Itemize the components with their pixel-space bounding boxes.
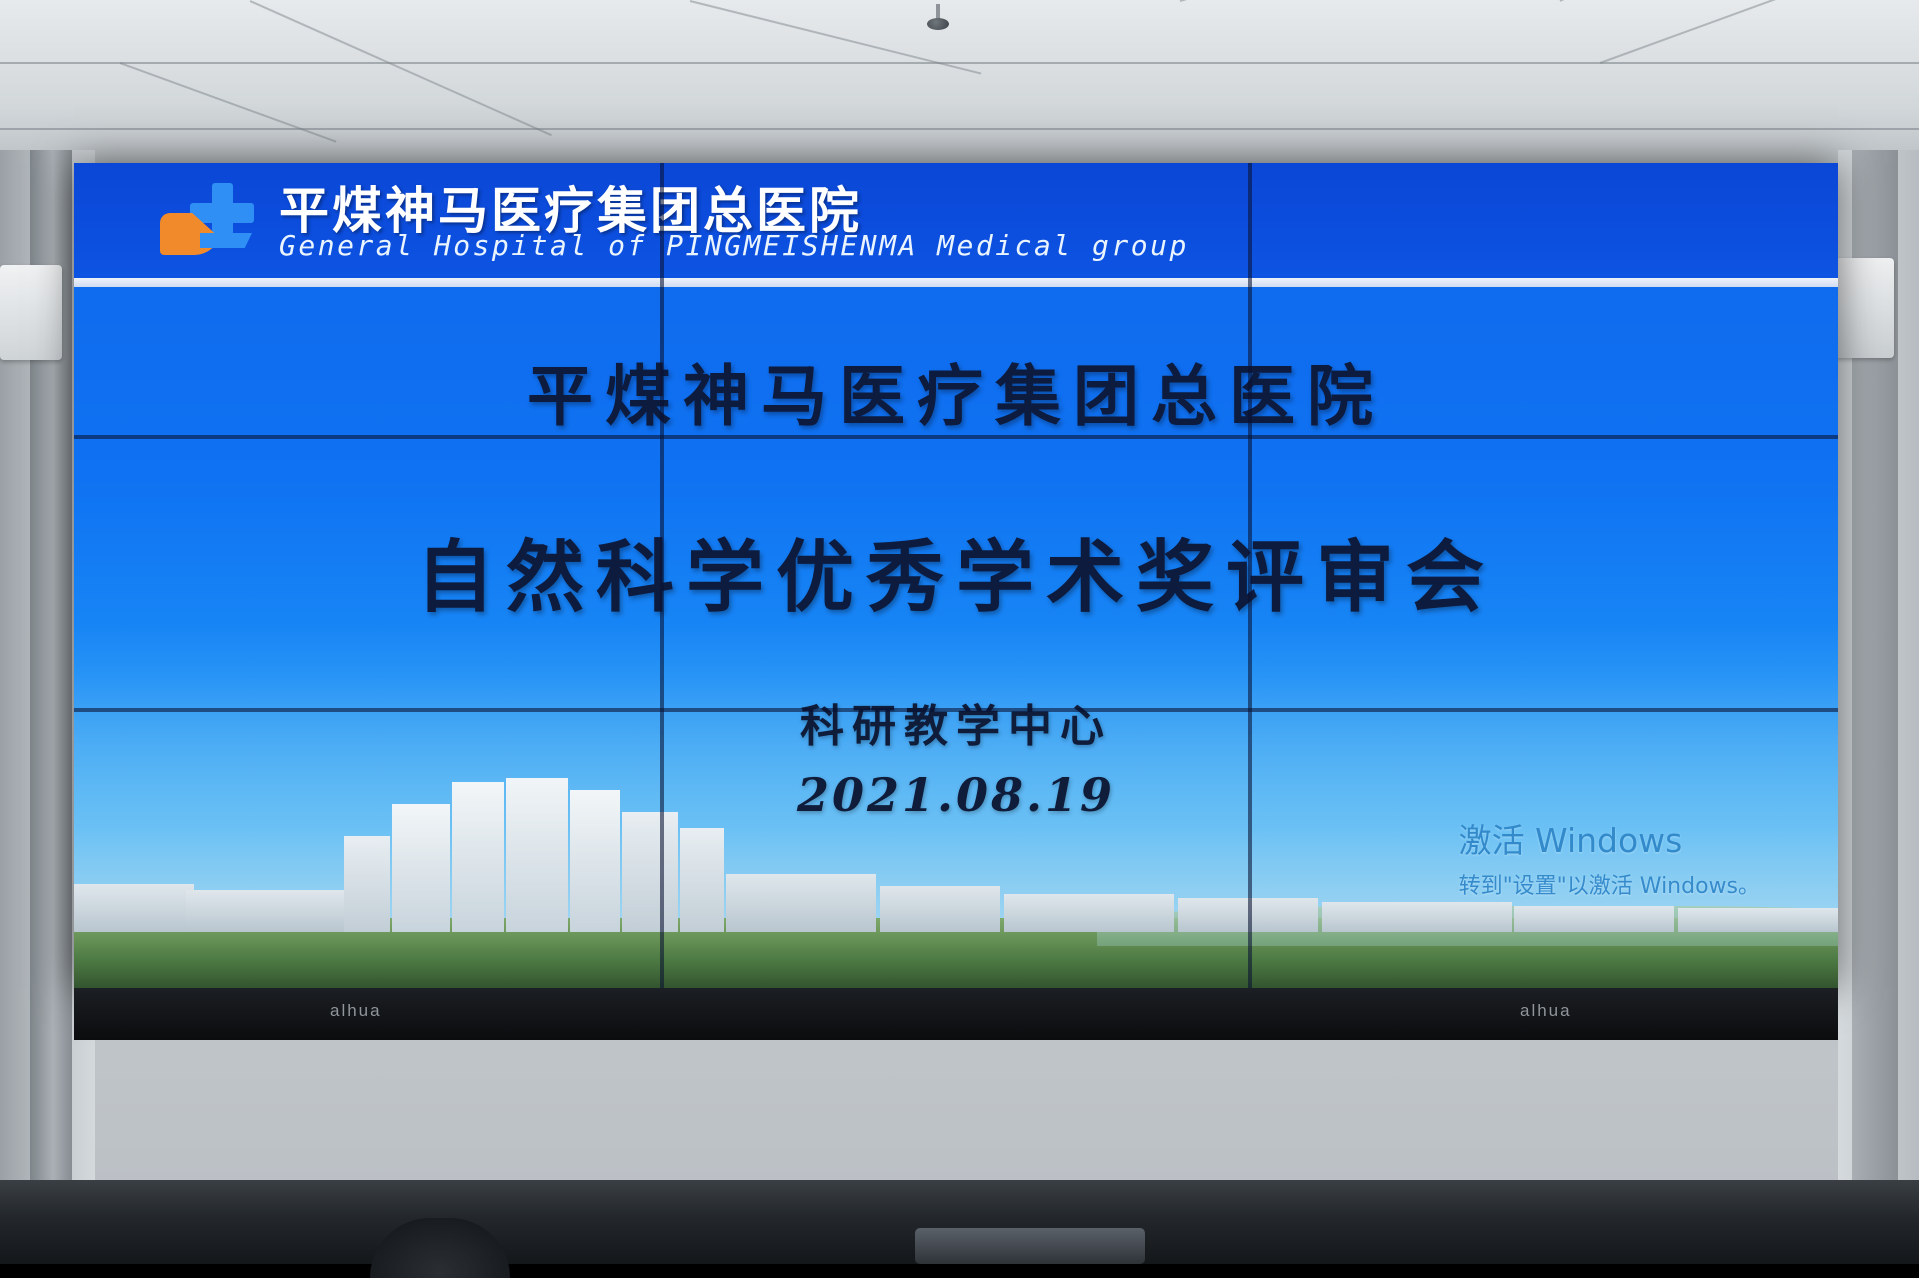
ceiling-sprinkler	[925, 4, 951, 34]
display-brand-label-right: alhua	[1520, 1001, 1572, 1021]
display-brand-label-left: alhua	[330, 1001, 382, 1021]
hospital-cross-logo-icon	[160, 181, 264, 259]
bezel-seam-horizontal-1	[74, 435, 1838, 439]
watermark-line-1: 激活 Windows	[1459, 814, 1760, 862]
bezel-seam-horizontal-2	[74, 708, 1838, 712]
bezel-seam-vertical-1	[660, 163, 664, 988]
desk-equipment	[915, 1228, 1145, 1264]
slide-title-line-1: 平煤神马医疗集团总医院	[74, 343, 1838, 439]
slide-department: 科研教学中心	[74, 690, 1838, 754]
conference-room: 平煤神马医疗集团总医院 General Hospital of PINGMEIS…	[0, 0, 1919, 1264]
bezel-seam-vertical-2	[1248, 163, 1252, 988]
slide-title-line-2: 自然科学优秀学术奖评审会	[74, 515, 1838, 627]
presentation-slide: 平煤神马医疗集团总医院 General Hospital of PINGMEIS…	[74, 163, 1838, 988]
windows-activation-watermark: 激活 Windows 转到"设置"以激活 Windows。	[1459, 814, 1760, 900]
watermark-line-2: 转到"设置"以激活 Windows。	[1459, 868, 1760, 900]
header-org-name-en: General Hospital of PINGMEISHENMA Medica…	[279, 229, 1189, 262]
left-wall-unit	[0, 265, 62, 360]
slide-header-divider	[74, 278, 1838, 287]
video-wall-display[interactable]: 平煤神马医疗集团总医院 General Hospital of PINGMEIS…	[74, 163, 1838, 988]
